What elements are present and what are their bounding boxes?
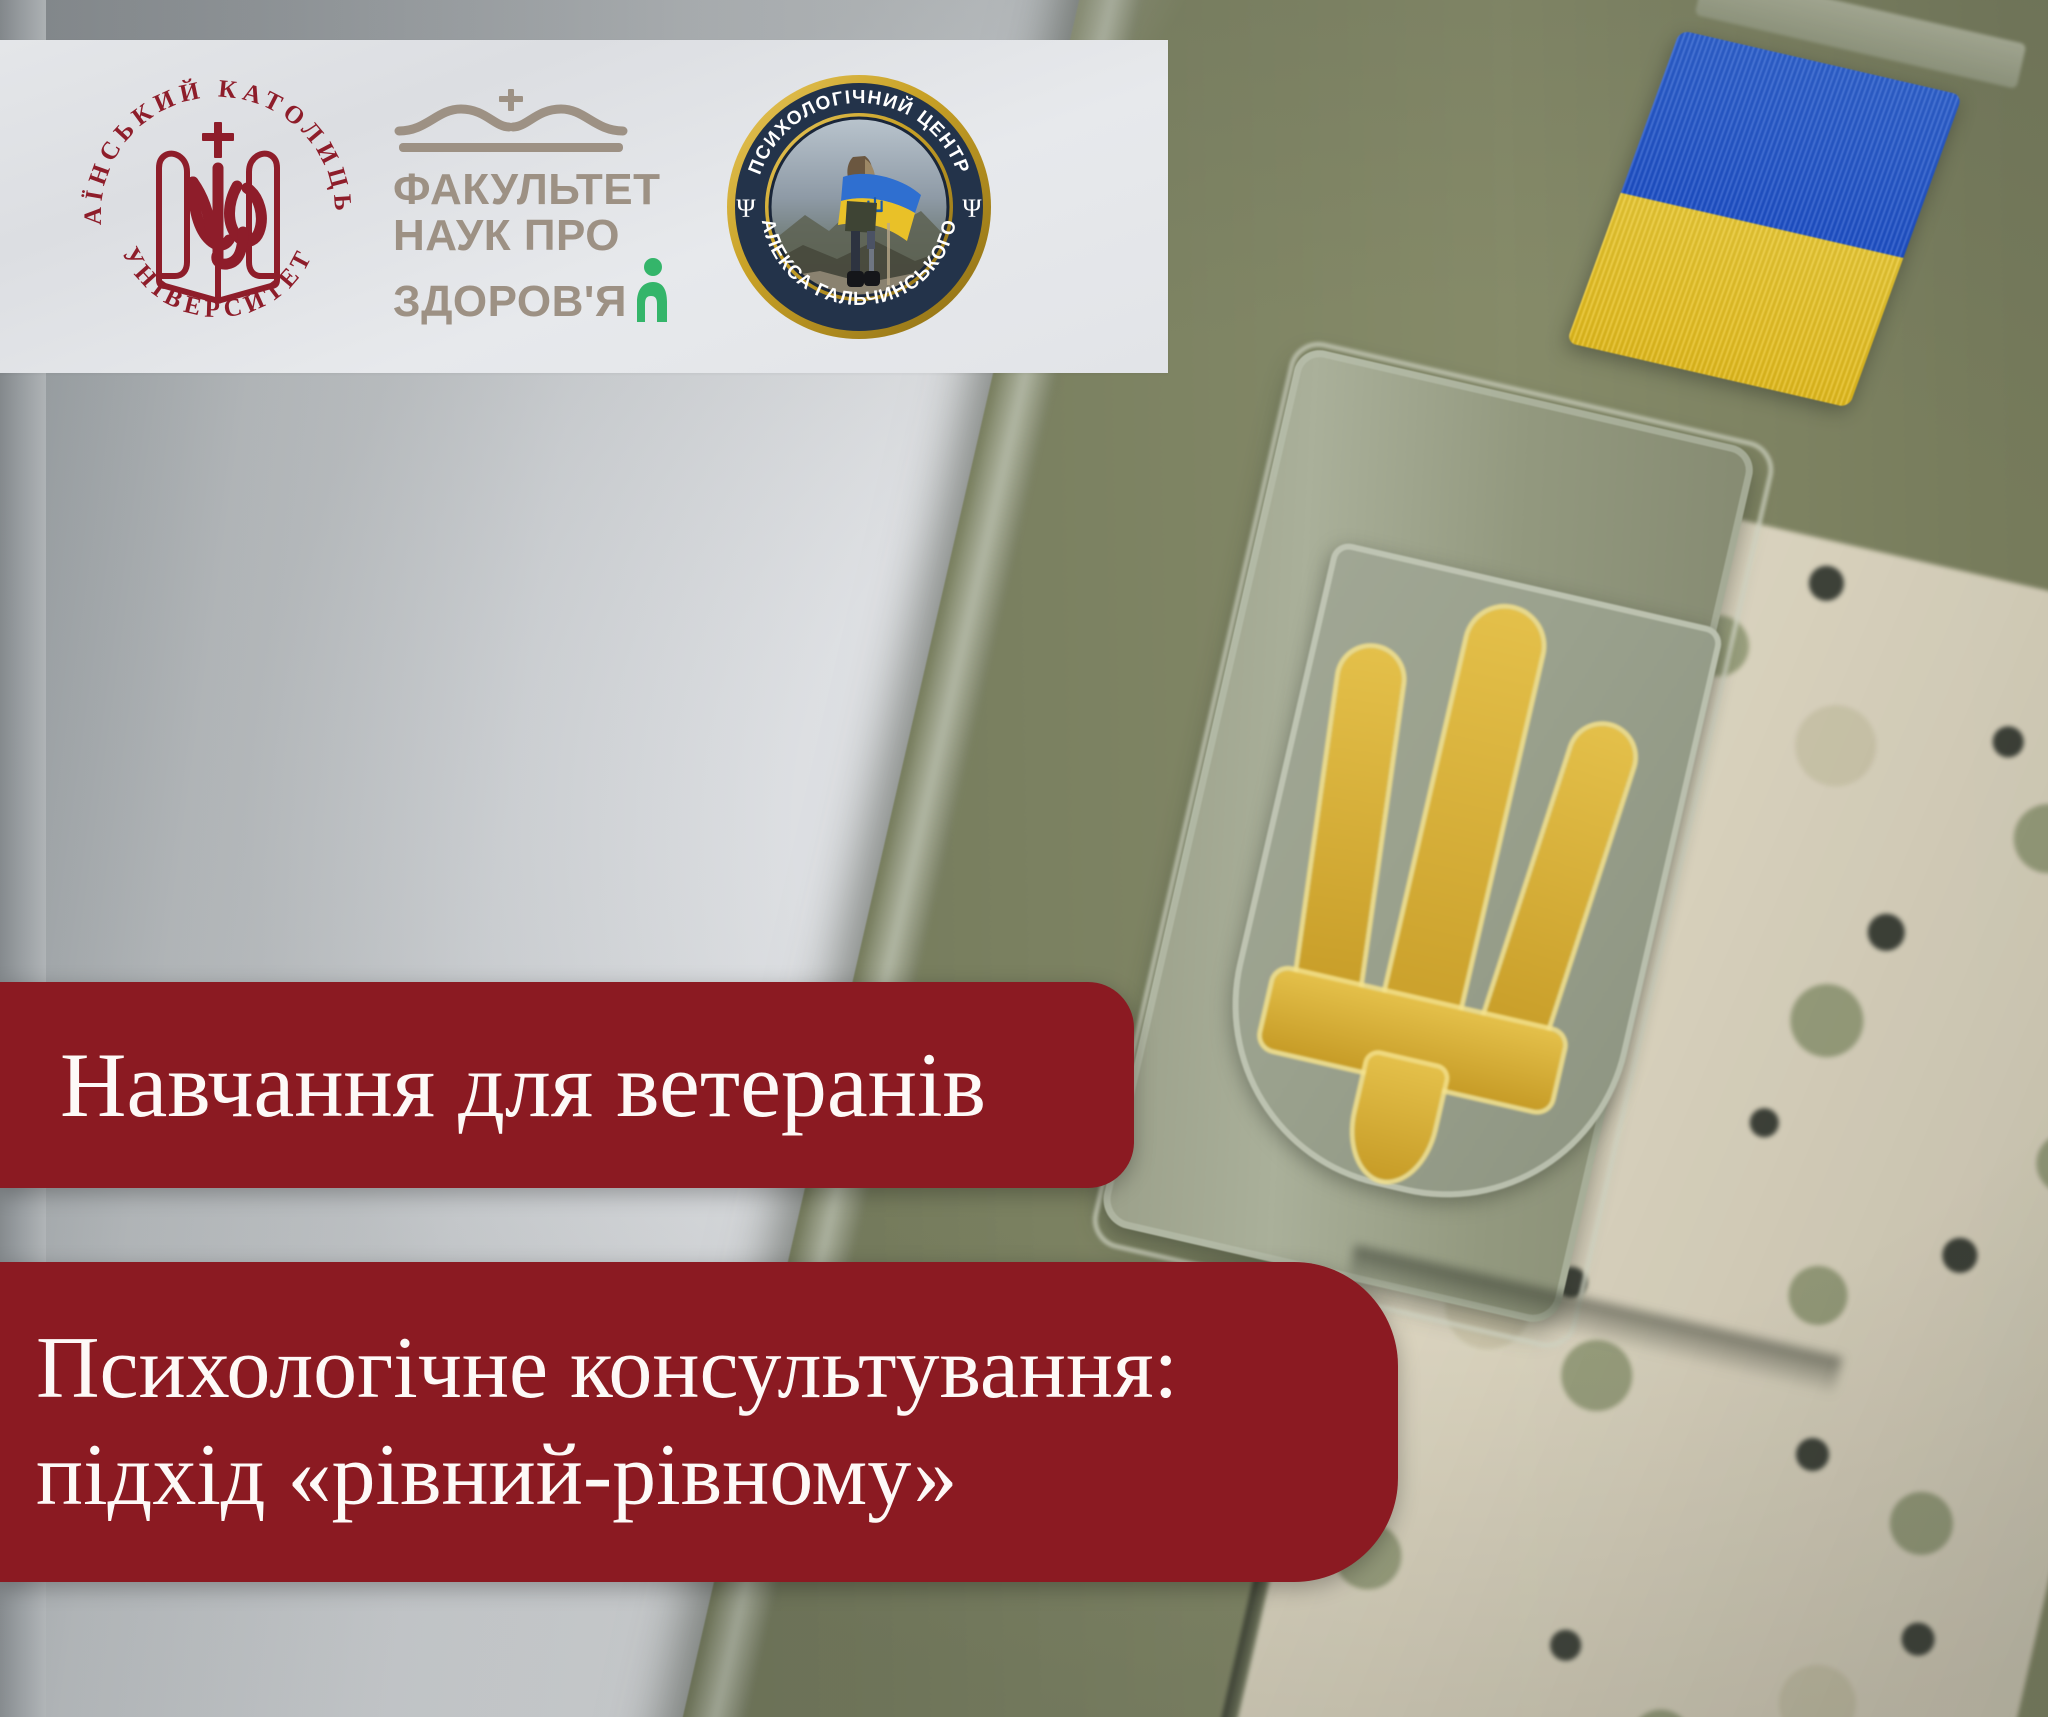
- faculty-of-health-sciences-logo: ФАКУЛЬТЕТ НАУК ПРО ЗДОРОВ'Я: [393, 89, 683, 325]
- open-book-wave-with-cross-icon: [393, 89, 633, 159]
- cross-icon: [202, 122, 234, 158]
- secondary-title-text: Психологічне консультування: підхід «рів…: [36, 1315, 1178, 1530]
- faculty-line-3: ЗДОРОВ'Я: [393, 279, 627, 325]
- psi-glyph-left: Ψ: [736, 194, 756, 223]
- primary-title-banner: Навчання для ветеранів: [0, 982, 1134, 1188]
- secondary-title-banner: Психологічне консультування: підхід «рів…: [0, 1262, 1398, 1582]
- poster-canvas: УКРАЇНСЬКИЙ КАТОЛИЦЬКИЙ УНІВЕРСИТЕТ: [0, 0, 2048, 1717]
- faculty-line-1: ФАКУЛЬТЕТ: [393, 167, 683, 213]
- faculty-line-2: НАУК ПРО: [393, 213, 683, 259]
- psi-glyph-right: Ψ: [962, 194, 982, 223]
- psychological-center-emblem: ПСИХОЛОГІЧНИЙ ЦЕНТР АЛЕКСА ГАЛЬЧИНСЬКОГО…: [725, 73, 993, 341]
- faculty-logo-wordmark: ФАКУЛЬТЕТ НАУК ПРО ЗДОРОВ'Я: [393, 167, 683, 325]
- secondary-title-line-2: підхід «рівний-рівному»: [36, 1422, 1178, 1529]
- secondary-title-line-1: Психологічне консультування:: [36, 1315, 1178, 1422]
- ucu-seal: УКРАЇНСЬКИЙ КАТОЛИЦЬКИЙ УНІВЕРСИТЕТ: [75, 64, 361, 350]
- primary-title-text: Навчання для ветеранів: [60, 1039, 986, 1131]
- green-person-icon: [631, 258, 671, 324]
- logo-header-band: УКРАЇНСЬКИЙ КАТОЛИЦЬКИЙ УНІВЕРСИТЕТ: [0, 40, 1168, 373]
